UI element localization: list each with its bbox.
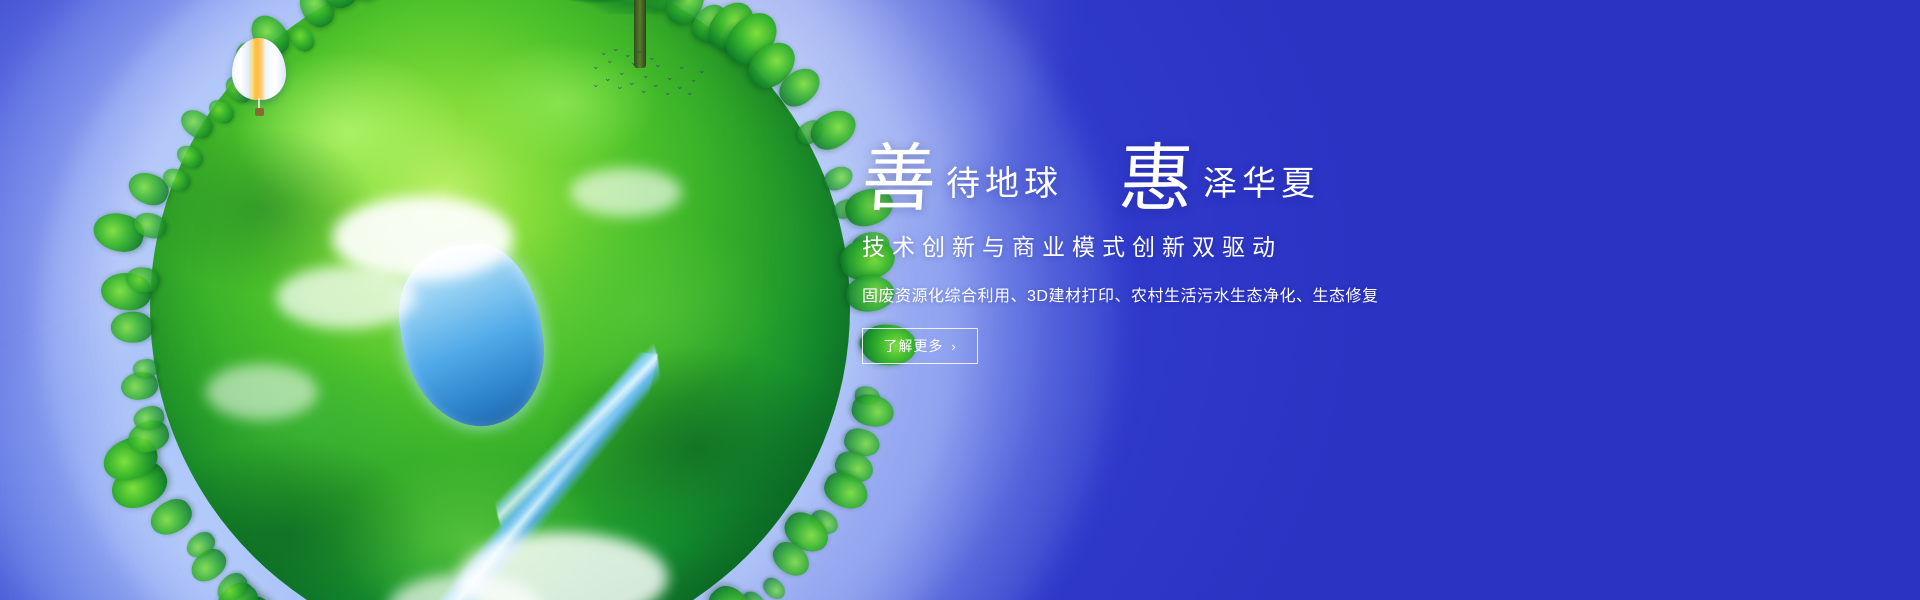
headline-text-zehuaxia: 泽华夏 bbox=[1193, 168, 1320, 214]
balloon-basket bbox=[255, 108, 264, 116]
bird-icon: ⌄ bbox=[592, 62, 600, 71]
bird-icon: ⌄ bbox=[618, 68, 626, 77]
headline-char-hui: 惠 bbox=[1117, 146, 1195, 214]
headline-text-daidiqiu: 待地球 bbox=[936, 168, 1063, 214]
subtitle: 技术创新与商业模式创新双驱动 bbox=[862, 228, 1562, 262]
hero-content: 善 待地球 惠 泽华夏 技术创新与商业模式创新双驱动 固废资源化综合利用、3D建… bbox=[862, 128, 1562, 364]
bird-icon: ⌄ bbox=[698, 66, 706, 75]
rim-tree bbox=[111, 311, 153, 342]
bird-icon: ⌄ bbox=[636, 46, 644, 55]
bird-icon: ⌄ bbox=[686, 88, 694, 97]
bird-icon: ⌄ bbox=[600, 48, 608, 57]
bird-icon: ⌄ bbox=[640, 86, 648, 95]
balloon-stripe bbox=[232, 38, 286, 100]
headline: 善 待地球 惠 泽华夏 bbox=[862, 128, 1562, 214]
bird-icon: ⌄ bbox=[616, 82, 624, 91]
bird-icon: ⌄ bbox=[664, 88, 672, 97]
bird-icon: ⌄ bbox=[606, 56, 614, 65]
large-tree-icon bbox=[548, 0, 738, 46]
headline-char-shan: 善 bbox=[860, 146, 938, 214]
bird-icon: ⌄ bbox=[628, 78, 636, 87]
chevron-right-icon: › bbox=[951, 339, 956, 354]
bird-icon: ⌄ bbox=[630, 58, 638, 67]
bird-icon: ⌄ bbox=[676, 82, 684, 91]
learn-more-button[interactable]: 了解更多 › bbox=[862, 328, 978, 364]
learn-more-label: 了解更多 bbox=[883, 336, 943, 356]
bird-icon: ⌄ bbox=[666, 73, 674, 82]
bird-icon: ⌄ bbox=[652, 80, 660, 89]
bird-icon: ⌄ bbox=[624, 50, 632, 59]
hero-banner: ⌄⌄⌄⌄⌄⌄⌄⌄⌄⌄⌄⌄⌄⌄⌄⌄⌄⌄⌄⌄⌄⌄⌄⌄ 善 待地球 惠 泽华夏 技术创… bbox=[0, 0, 1920, 600]
rim-tree bbox=[286, 22, 318, 56]
bird-icon: ⌄ bbox=[592, 80, 600, 89]
bird-icon: ⌄ bbox=[648, 53, 656, 62]
hot-air-balloon-icon bbox=[232, 38, 286, 124]
bird-icon: ⌄ bbox=[690, 75, 698, 84]
bird-icon: ⌄ bbox=[642, 71, 650, 80]
bird-icon: ⌄ bbox=[678, 62, 686, 71]
bird-icon: ⌄ bbox=[604, 74, 612, 83]
bird-icon: ⌄ bbox=[612, 44, 620, 53]
description: 固废资源化综合利用、3D建材打印、农村生活污水生态净化、生态修复 bbox=[862, 282, 1562, 306]
